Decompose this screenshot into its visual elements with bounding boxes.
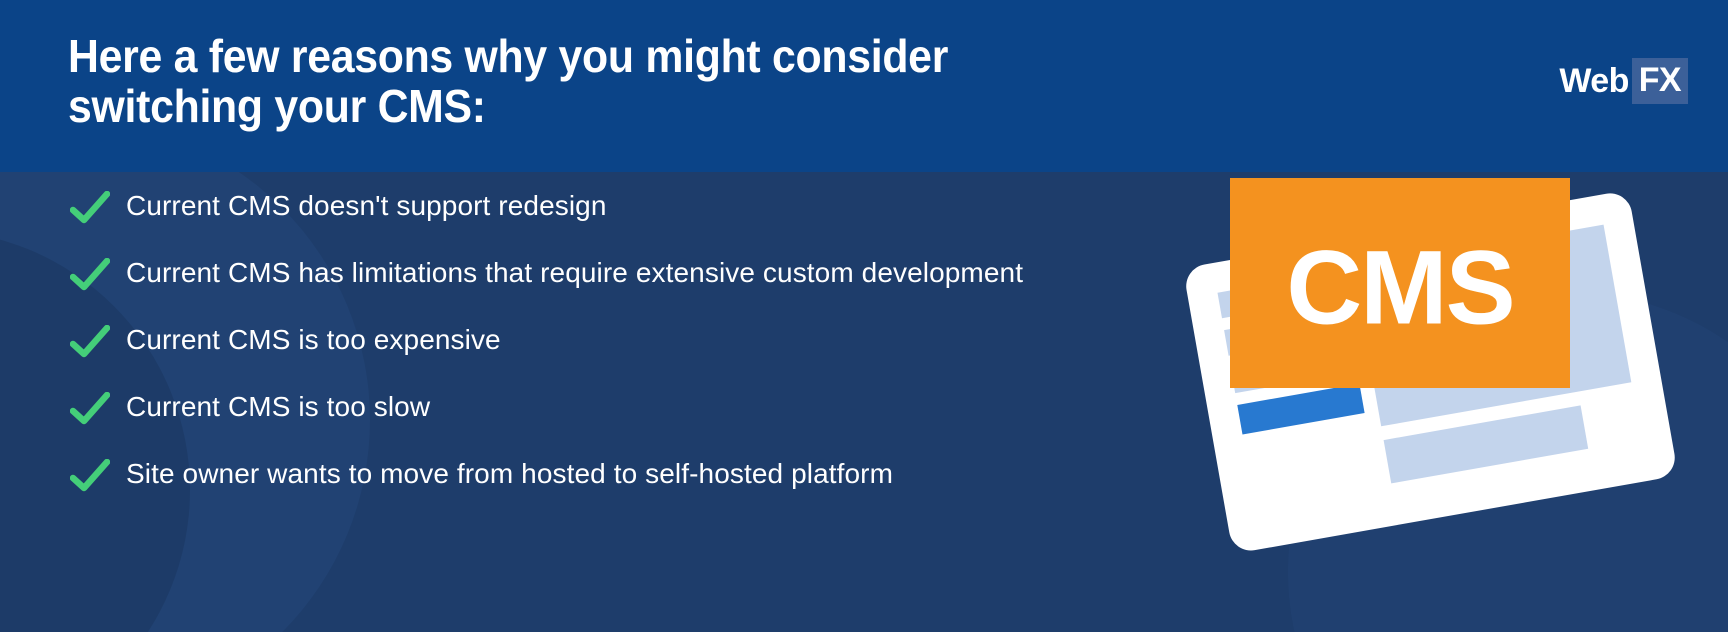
header-band: Here a few reasons why you might conside…: [0, 0, 1728, 172]
logo-word-web: Web: [1559, 64, 1628, 98]
list-item-label: Site owner wants to move from hosted to …: [126, 456, 893, 492]
check-icon: [70, 191, 110, 225]
webfx-logo[interactable]: Web FX: [1559, 60, 1688, 102]
list-item-label: Current CMS is too slow: [126, 389, 430, 425]
infographic-banner: Here a few reasons why you might conside…: [0, 0, 1728, 632]
check-icon: [70, 325, 110, 359]
list-item: Current CMS doesn't support redesign: [70, 188, 1080, 225]
check-icon: [70, 392, 110, 426]
list-item: Current CMS is too expensive: [70, 322, 1080, 359]
list-item-label: Current CMS has limitations that require…: [126, 255, 1023, 291]
list-item: Site owner wants to move from hosted to …: [70, 456, 1080, 493]
check-icon: [70, 258, 110, 292]
list-item: Current CMS has limitations that require…: [70, 255, 1080, 292]
list-item: Current CMS is too slow: [70, 389, 1080, 426]
logo-badge-fx: FX: [1632, 58, 1688, 104]
cms-label: CMS: [1286, 230, 1513, 347]
reasons-checklist: Current CMS doesn't support redesign Cur…: [70, 188, 1080, 493]
list-item-label: Current CMS is too expensive: [126, 322, 501, 358]
list-item-label: Current CMS doesn't support redesign: [126, 188, 607, 224]
cms-browser-card-illustration: CMS: [1175, 148, 1695, 548]
page-title: Here a few reasons why you might conside…: [68, 32, 1072, 131]
check-icon: [70, 459, 110, 493]
